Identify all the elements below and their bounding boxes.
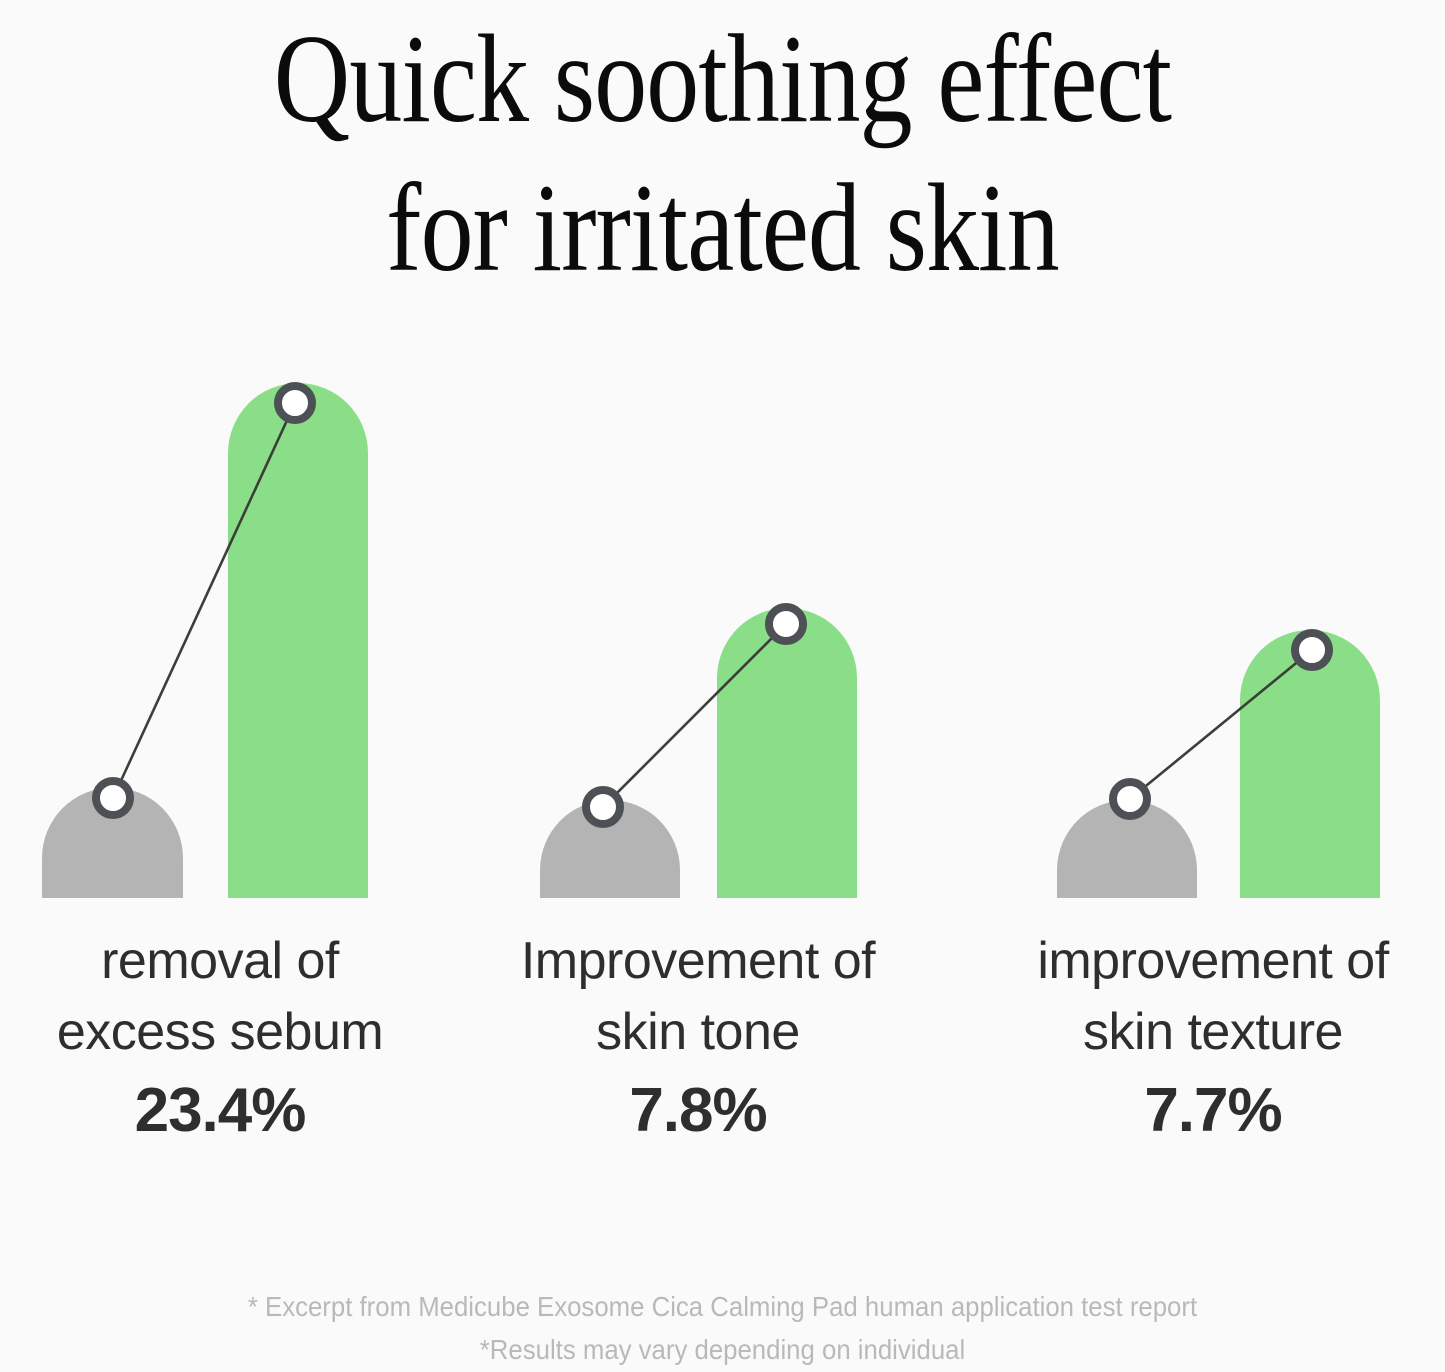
bar-after-group-1 [228, 383, 368, 898]
caption-label-line-1-group-2: Improvement of [458, 926, 938, 997]
caption-group-2: Improvement of skin tone 7.8% [458, 926, 938, 1146]
caption-value-group-2: 7.8% [458, 1075, 938, 1146]
marker-before-group-1 [96, 781, 130, 815]
footnote-line-2: *Results may vary depending on individua… [58, 1329, 1387, 1372]
footnote: * Excerpt from Medicube Exosome Cica Cal… [58, 1286, 1387, 1371]
caption-label-line-2-group-2: skin tone [458, 997, 938, 1068]
page-title: Quick soothing effect for irritated skin [116, 0, 1330, 303]
bar-chart [0, 340, 1445, 920]
caption-value-group-1: 23.4% [0, 1075, 460, 1146]
caption-label-line-1-group-1: removal of [0, 926, 460, 997]
page-title-line-2: for irritated skin [116, 155, 1330, 304]
bar-chart-svg [0, 340, 1445, 920]
bar-after-group-2 [717, 608, 857, 898]
marker-after-group-1 [278, 386, 312, 420]
chart-captions: removal of excess sebum 23.4% Improvemen… [0, 926, 1445, 1176]
caption-group-3: improvement of skin texture 7.7% [968, 926, 1445, 1146]
infographic-root: Quick soothing effect for irritated skin [0, 0, 1445, 1372]
page-title-line-1: Quick soothing effect [116, 6, 1330, 155]
caption-group-1: removal of excess sebum 23.4% [0, 926, 460, 1146]
marker-before-group-2 [586, 790, 620, 824]
footnote-line-1: * Excerpt from Medicube Exosome Cica Cal… [58, 1286, 1387, 1329]
marker-after-group-2 [769, 607, 803, 641]
caption-label-line-2-group-1: excess sebum [0, 997, 460, 1068]
caption-label-line-2-group-3: skin texture [968, 997, 1445, 1068]
caption-label-line-1-group-3: improvement of [968, 926, 1445, 997]
marker-before-group-3 [1113, 782, 1147, 816]
marker-after-group-3 [1295, 633, 1329, 667]
caption-value-group-3: 7.7% [968, 1075, 1445, 1146]
